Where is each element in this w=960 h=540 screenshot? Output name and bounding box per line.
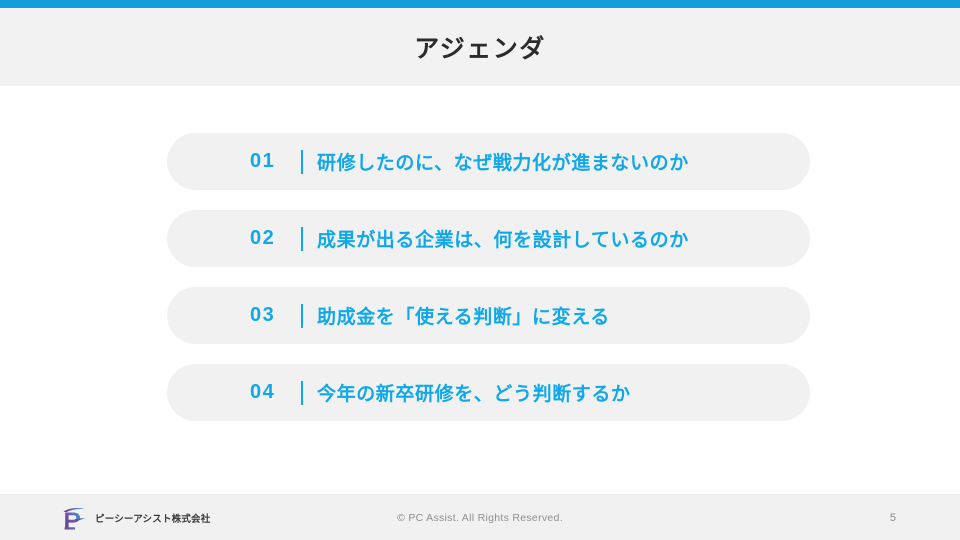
agenda-item-04[interactable]: 04 今年の新卒研修を、どう判断するか bbox=[167, 364, 810, 421]
top-accent-bar bbox=[0, 0, 960, 8]
agenda-item-number: 03 bbox=[250, 304, 275, 327]
agenda-item-03[interactable]: 03 助成金を「使える判断」に変える bbox=[167, 287, 810, 344]
agenda-item-number: 01 bbox=[250, 150, 275, 173]
agenda-item-01[interactable]: 01 研修したのに、なぜ戦力化が進まないのか bbox=[167, 133, 810, 190]
agenda-item-label: 研修したのに、なぜ戦力化が進まないのか bbox=[317, 148, 689, 175]
copyright-text: © PC Assist. All Rights Reserved. bbox=[0, 512, 960, 524]
agenda-list: 01 研修したのに、なぜ戦力化が進まないのか 02 成果が出る企業は、何を設計し… bbox=[167, 133, 810, 421]
agenda-item-divider bbox=[301, 304, 303, 328]
page-title: アジェンダ bbox=[0, 8, 960, 86]
agenda-item-label: 今年の新卒研修を、どう判断するか bbox=[317, 379, 631, 406]
agenda-item-divider bbox=[301, 381, 303, 405]
agenda-item-number: 02 bbox=[250, 227, 275, 250]
agenda-item-02[interactable]: 02 成果が出る企業は、何を設計しているのか bbox=[167, 210, 810, 267]
agenda-item-divider bbox=[301, 150, 303, 174]
agenda-item-label: 成果が出る企業は、何を設計しているのか bbox=[317, 225, 689, 252]
slide-agenda: アジェンダ 01 研修したのに、なぜ戦力化が進まないのか 02 成果が出る企業は… bbox=[0, 0, 960, 540]
agenda-item-label: 助成金を「使える判断」に変える bbox=[317, 302, 610, 329]
page-number: 5 bbox=[890, 512, 896, 524]
agenda-item-divider bbox=[301, 227, 303, 251]
agenda-item-number: 04 bbox=[250, 381, 275, 404]
